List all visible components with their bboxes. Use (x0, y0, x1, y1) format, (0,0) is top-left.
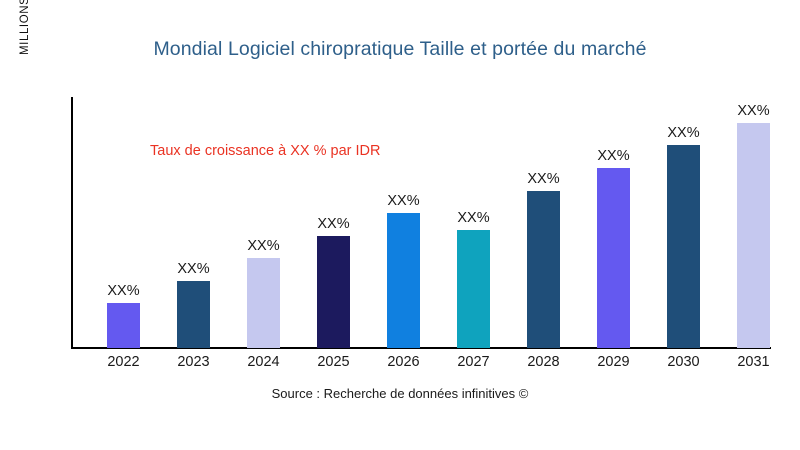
x-tick-label-2028: 2028 (514, 354, 574, 370)
bar-2030[interactable] (667, 145, 700, 348)
bar-group: XX% (387, 213, 420, 348)
bar-value-label-2023: XX% (177, 261, 209, 277)
chart-container: Mondial Logiciel chiropratique Taille et… (0, 0, 800, 450)
x-tick-label-2022: 2022 (94, 354, 154, 370)
bar-group: XX% (737, 123, 770, 348)
bar-value-label-2022: XX% (107, 283, 139, 299)
bar-2026[interactable] (387, 213, 420, 348)
bar-group: XX% (107, 303, 140, 348)
bar-2027[interactable] (457, 230, 490, 348)
bar-2023[interactable] (177, 281, 210, 348)
bar-group: XX% (457, 230, 490, 348)
x-tick-label-2029: 2029 (584, 354, 644, 370)
bar-value-label-2024: XX% (247, 238, 279, 254)
x-tick-label-2030: 2030 (654, 354, 714, 370)
bar-value-label-2031: XX% (737, 103, 769, 119)
x-tick-label-2025: 2025 (304, 354, 364, 370)
growth-rate-annotation: Taux de croissance à XX % par IDR (150, 143, 381, 159)
bar-value-label-2029: XX% (597, 148, 629, 164)
source-note: Source : Recherche de données infinitive… (0, 386, 800, 401)
plot-area: XX%2022XX%2023XX%2024XX%2025XX%2026XX%20… (0, 0, 800, 450)
bar-2029[interactable] (597, 168, 630, 348)
bar-value-label-2026: XX% (387, 193, 419, 209)
x-tick-label-2031: 2031 (724, 354, 784, 370)
bar-value-label-2027: XX% (457, 210, 489, 226)
bar-2025[interactable] (317, 236, 350, 348)
bar-group: XX% (527, 191, 560, 348)
bar-group: XX% (667, 145, 700, 348)
bar-value-label-2025: XX% (317, 216, 349, 232)
bar-2028[interactable] (527, 191, 560, 348)
bar-value-label-2030: XX% (667, 125, 699, 141)
bar-group: XX% (597, 168, 630, 348)
x-tick-label-2027: 2027 (444, 354, 504, 370)
x-tick-label-2023: 2023 (164, 354, 224, 370)
bar-2022[interactable] (107, 303, 140, 348)
x-tick-label-2026: 2026 (374, 354, 434, 370)
bar-value-label-2028: XX% (527, 171, 559, 187)
x-tick-label-2024: 2024 (234, 354, 294, 370)
bar-2024[interactable] (247, 258, 280, 348)
bar-group: XX% (317, 236, 350, 348)
bar-2031[interactable] (737, 123, 770, 348)
bar-group: XX% (247, 258, 280, 348)
bar-group: XX% (177, 281, 210, 348)
